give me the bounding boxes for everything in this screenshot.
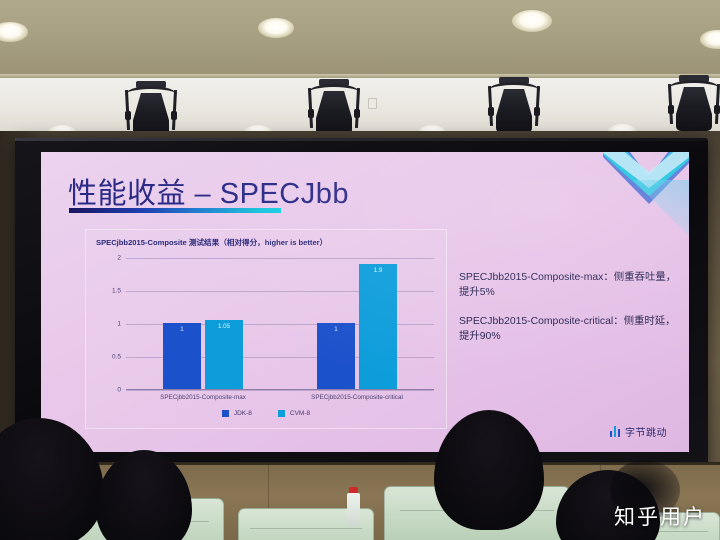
spotlight-knob: [668, 105, 674, 114]
spotlight-knob: [488, 107, 494, 116]
chart-bar: 1.05: [205, 320, 243, 389]
bar-value-label: 1.9: [359, 267, 397, 274]
chart-bar: 1: [163, 323, 201, 389]
legend-item: CVM-8: [278, 410, 310, 417]
y-axis-tick-label: 0: [117, 387, 121, 394]
spotlight-knob: [354, 109, 360, 118]
chart-gridline: [126, 258, 434, 259]
watermark: 知乎用户: [614, 501, 706, 531]
bar-value-label: 1: [317, 326, 355, 333]
slide-title: 性能收益 – SPECJbb: [68, 170, 349, 212]
display-screen: 性能收益 – SPECJbb SPECjbb2015-Composite 测试结…: [15, 138, 708, 468]
chart-gridline: [126, 390, 434, 391]
chart-legend: JDK-8CVM-8: [86, 410, 446, 417]
presentation-slide: 性能收益 – SPECJbb SPECjbb2015-Composite 测试结…: [41, 152, 689, 452]
bottle-body: [347, 493, 360, 527]
legend-label: JDK-8: [234, 410, 252, 417]
brand-name: 字节跳动: [625, 424, 667, 439]
spotlight-arm: [715, 84, 720, 124]
ceiling-downlight: [258, 18, 294, 38]
spotlight-knob: [308, 109, 314, 118]
note-line: SPECJbb2015-Composite-critical：侧重时延，提升90…: [459, 314, 681, 344]
legend-label: CVM-8: [290, 410, 310, 417]
spotlight-arm: [355, 88, 360, 128]
x-axis-tick-label: SPECjbb2015-Composite-critical: [311, 394, 403, 401]
brand-logo: 字节跳动: [610, 424, 668, 439]
bar-value-label: 1.05: [205, 323, 243, 330]
chart-title: SPECjbb2015-Composite 测试结果（相对得分，higher i…: [96, 237, 327, 248]
chart-panel: SPECjbb2015-Composite 测试结果（相对得分，higher i…: [85, 229, 447, 429]
spotlight-body: [316, 91, 352, 135]
y-axis-tick-label: 1: [117, 321, 121, 328]
x-axis-tick-label: SPECjbb2015-Composite-max: [160, 394, 246, 401]
water-bottle: [347, 487, 360, 527]
bar-chart-logo-icon: [610, 426, 621, 437]
chart-plot-area: 00.511.5211.0511.9: [126, 258, 434, 390]
spotlight-arm: [172, 90, 177, 130]
bezel-highlight: [15, 138, 708, 141]
spotlight-body: [496, 89, 532, 133]
wall-control-panel[interactable]: [368, 98, 377, 109]
photo-scene: 性能收益 – SPECJbb SPECjbb2015-Composite 测试结…: [0, 0, 720, 540]
bar-value-label: 1: [163, 326, 201, 333]
spotlight-knob: [714, 105, 720, 114]
slide-notes: SPECJbb2015-Composite-max：侧重吞吐量，提升5% SPE…: [459, 270, 681, 358]
chart-bar: 1: [317, 323, 355, 389]
y-axis-tick-label: 0.5: [112, 354, 121, 361]
note-line: SPECJbb2015-Composite-max：侧重吞吐量，提升5%: [459, 270, 681, 300]
y-axis-tick-label: 2: [117, 255, 121, 262]
chart-bar: 1.9: [359, 264, 397, 389]
title-underline: [69, 208, 281, 213]
spotlight-body: [676, 87, 712, 131]
ceiling-downlight: [512, 10, 552, 32]
legend-swatch-icon: [278, 410, 285, 417]
spotlight-knob: [171, 111, 177, 120]
legend-item: JDK-8: [222, 410, 252, 417]
spotlight-arm: [535, 86, 540, 126]
legend-swatch-icon: [222, 410, 229, 417]
spotlight-knob: [125, 111, 131, 120]
y-axis-tick-label: 1.5: [112, 288, 121, 295]
spotlight-knob: [534, 107, 540, 116]
ceiling: [0, 0, 720, 78]
